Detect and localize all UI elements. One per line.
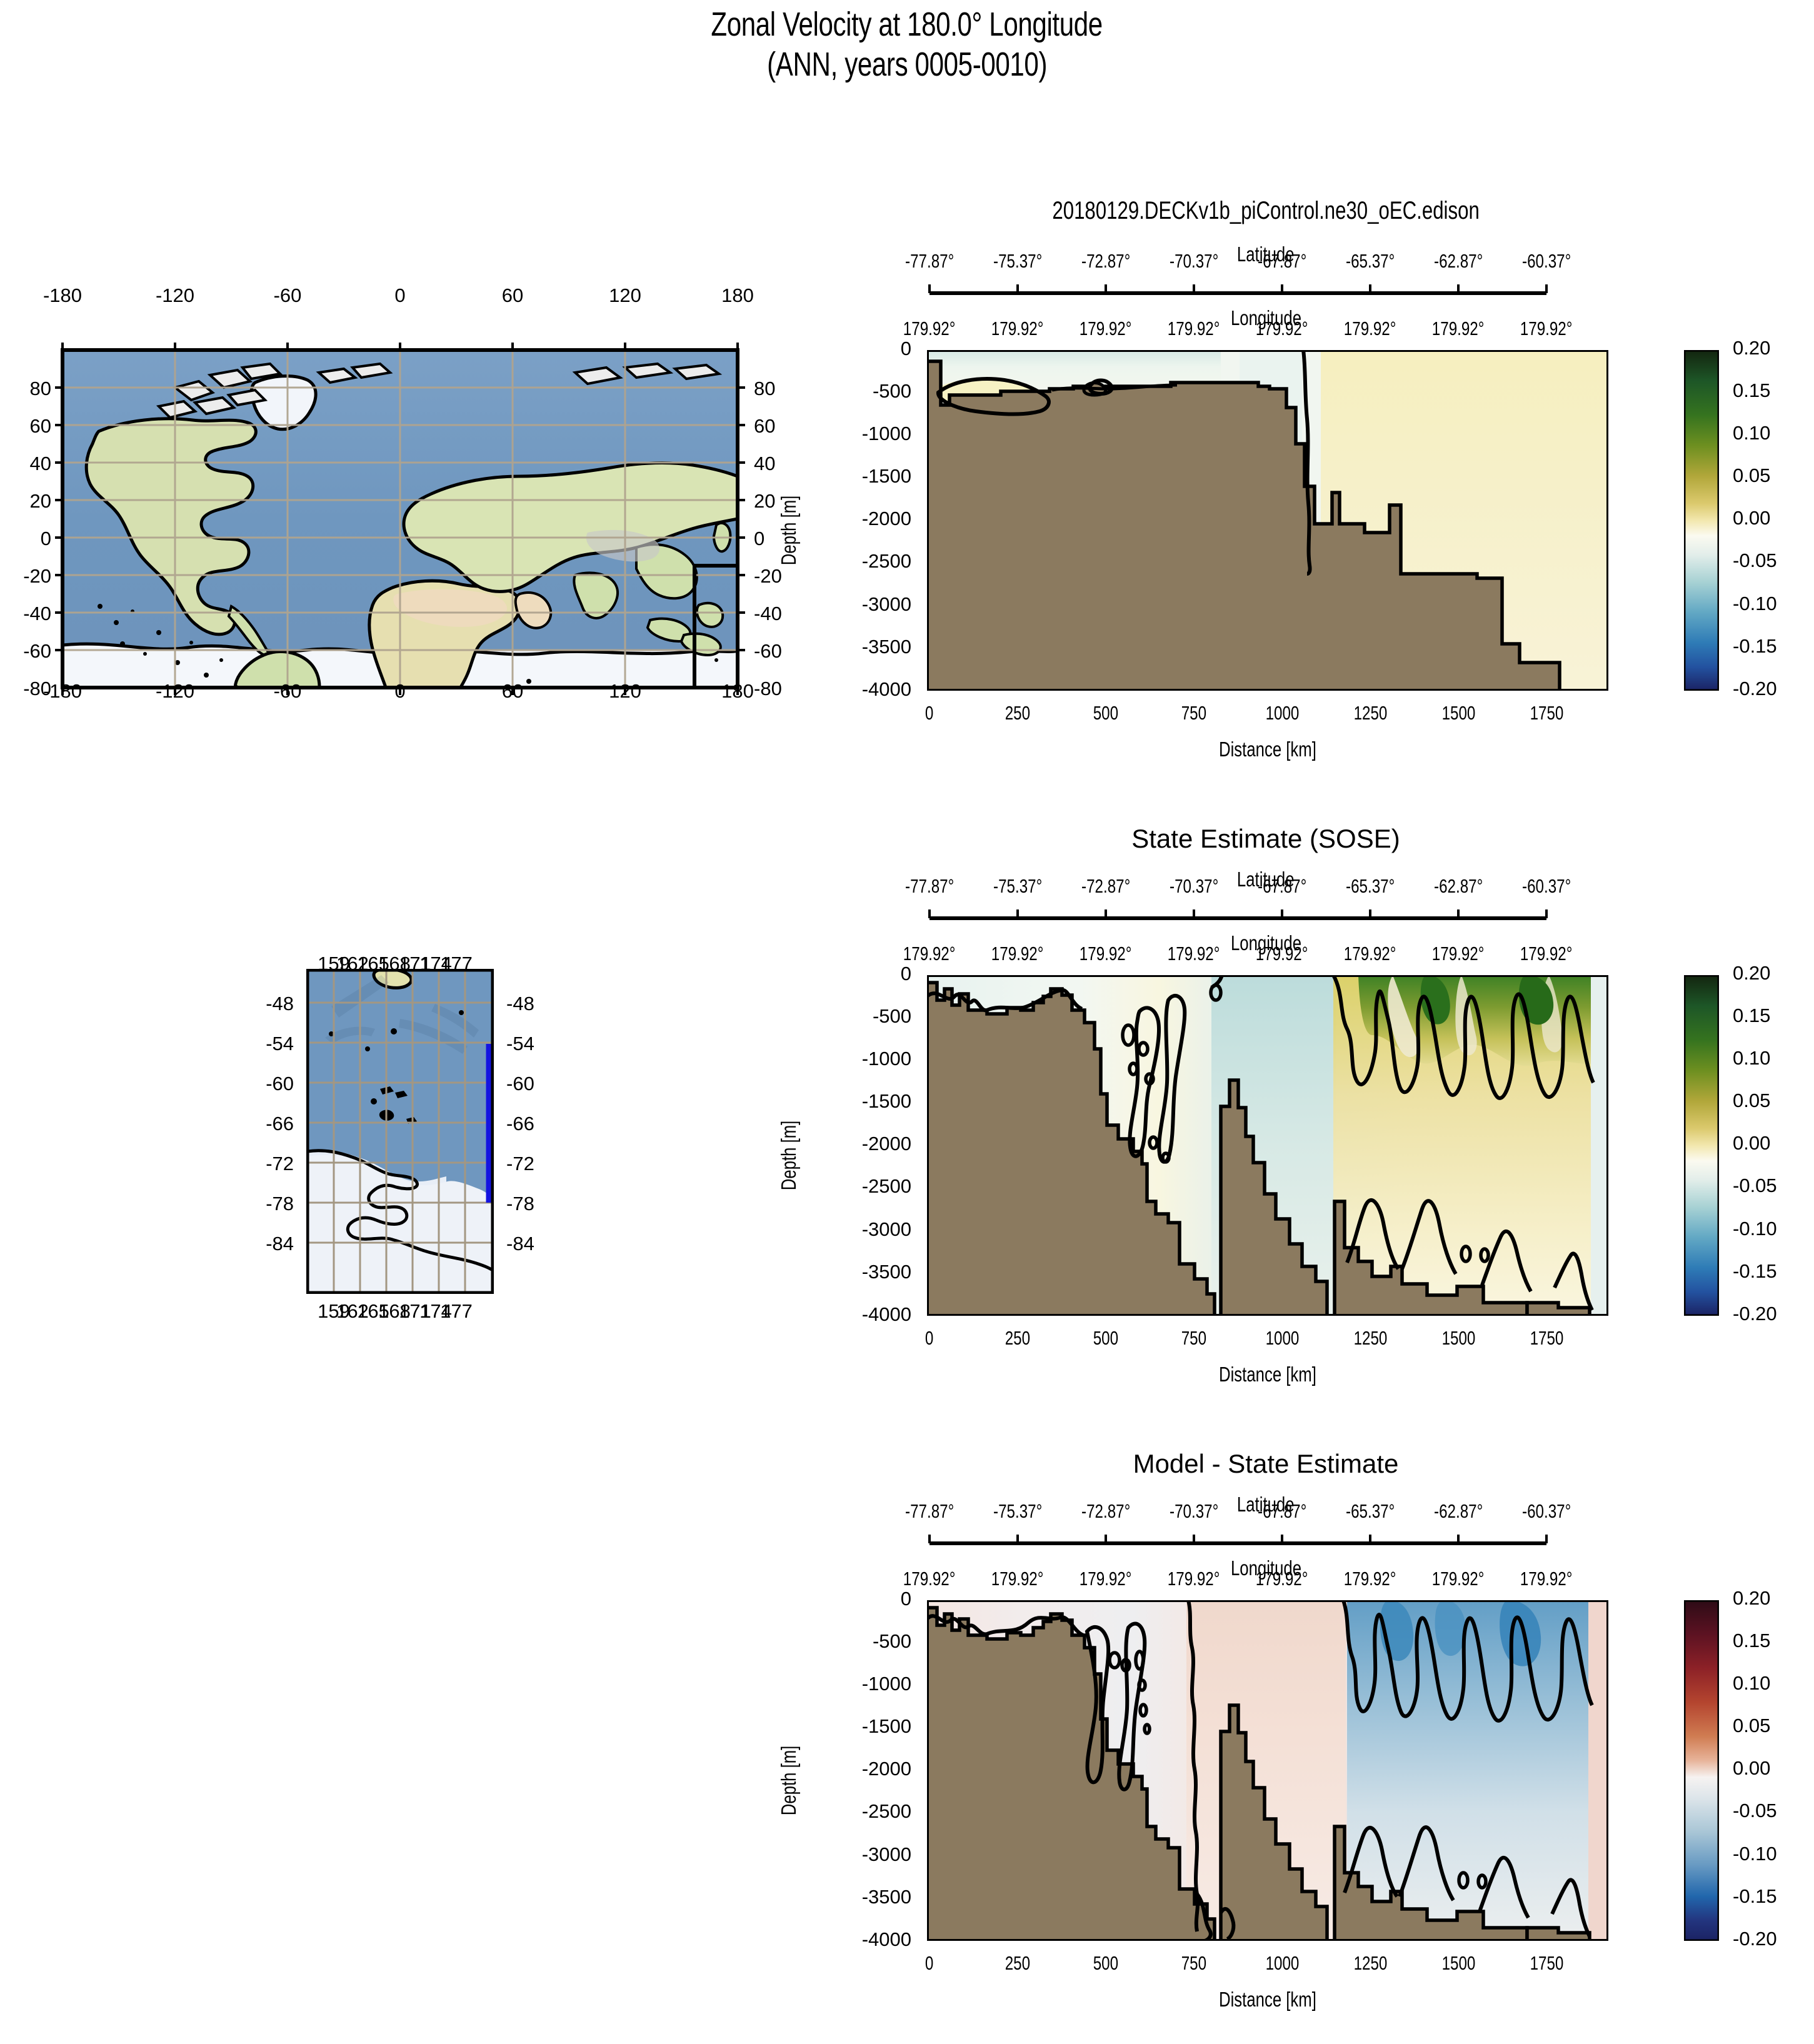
sose-x-axis-label: Distance [km] — [927, 1363, 1608, 1386]
world-ytick-r-2: 40 — [754, 453, 775, 475]
model-y-tick-8: -4000 — [796, 678, 911, 701]
world-ytick-r-1: 60 — [754, 415, 775, 438]
model-lat-tick-7: -60.37° — [1490, 250, 1603, 273]
difference-latitude-spine — [927, 1535, 1608, 1547]
difference-y-tick-5: -2500 — [796, 1800, 911, 1823]
model-y-tick-1: -500 — [796, 380, 911, 403]
model-colorbar-tick-5: -0.05 — [1733, 549, 1777, 572]
model-section-svg — [927, 350, 1608, 691]
sose-colorbar-tick-2: 0.10 — [1733, 1047, 1770, 1070]
sose-section-plot[interactable] — [927, 975, 1608, 1316]
difference-y-tick-4: -2000 — [796, 1758, 911, 1780]
world-ytick-r-4: 0 — [754, 528, 764, 550]
world-ytick-l-6: -40 — [0, 603, 51, 625]
region-ytick-l-0: -48 — [231, 993, 294, 1015]
model-lon-tick-7: 179.92° — [1484, 318, 1609, 340]
global-locator-map-svg — [25, 313, 775, 700]
region-ytick-r-0: -48 — [506, 993, 534, 1015]
regional-locator-map[interactable] — [306, 969, 494, 1294]
world-ytick-r-0: 80 — [754, 378, 775, 400]
model-y-tick-2: -1000 — [796, 423, 911, 445]
model-y-tick-5: -2500 — [796, 550, 911, 573]
world-ytick-l-1: 60 — [0, 415, 51, 438]
region-ytick-l-5: -78 — [231, 1193, 294, 1215]
sose-panel-title: State Estimate (SOSE) — [875, 824, 1656, 854]
sose-colorbar[interactable] — [1684, 975, 1719, 1316]
world-xtick-top-1: -120 — [125, 284, 225, 307]
sose-colorbar-tick-5: -0.05 — [1733, 1175, 1777, 1197]
model-panel-title: 20180129.DECKv1b_piControl.ne30_oEC.edis… — [875, 197, 1656, 225]
sose-lat-tick-7: -60.37° — [1490, 875, 1603, 898]
world-xtick-bot-2: -60 — [238, 680, 338, 703]
difference-y-tick-2: -1000 — [796, 1673, 911, 1695]
world-xtick-top-5: 120 — [575, 284, 675, 307]
sose-section-svg — [927, 975, 1608, 1316]
difference-panel-title: Model - State Estimate — [875, 1449, 1656, 1479]
sose-y-tick-7: -3500 — [796, 1261, 911, 1283]
difference-colorbar-tick-2: 0.10 — [1733, 1672, 1770, 1695]
difference-colorbar-tick-5: -0.05 — [1733, 1800, 1777, 1822]
model-y-tick-3: -1500 — [796, 465, 911, 488]
difference-colorbar-tick-8: -0.20 — [1733, 1928, 1777, 1950]
sose-colorbar-tick-8: -0.20 — [1733, 1303, 1777, 1325]
difference-lat-tick-7: -60.37° — [1490, 1500, 1603, 1523]
model-colorbar-tick-8: -0.20 — [1733, 678, 1777, 700]
world-xtick-bot-3: 0 — [350, 680, 450, 703]
model-colorbar-tick-2: 0.10 — [1733, 422, 1770, 444]
region-ytick-r-6: -84 — [506, 1233, 534, 1255]
model-colorbar-tick-4: 0.00 — [1733, 507, 1770, 529]
difference-y-tick-1: -500 — [796, 1630, 911, 1653]
difference-colorbar-tick-3: 0.05 — [1733, 1715, 1770, 1737]
model-colorbar-tick-6: -0.10 — [1733, 593, 1777, 615]
model-y-tick-7: -3500 — [796, 636, 911, 658]
sose-y-tick-6: -3000 — [796, 1218, 911, 1241]
world-ytick-l-8: -80 — [0, 678, 51, 700]
difference-y-tick-0: 0 — [796, 1588, 911, 1610]
sose-y-tick-4: -2000 — [796, 1133, 911, 1155]
sose-colorbar-tick-1: 0.15 — [1733, 1004, 1770, 1027]
sose-colorbar-tick-3: 0.05 — [1733, 1090, 1770, 1112]
sose-y-tick-3: -1500 — [796, 1090, 911, 1113]
region-xtick-top-6: 177 — [431, 953, 481, 975]
difference-colorbar-tick-1: 0.15 — [1733, 1630, 1770, 1652]
model-y-tick-6: -3000 — [796, 593, 911, 616]
model-colorbar-tick-0: 0.20 — [1733, 337, 1770, 359]
world-xtick-bot-1: -120 — [125, 680, 225, 703]
region-ytick-r-3: -66 — [506, 1113, 534, 1135]
difference-y-tick-6: -3000 — [796, 1843, 911, 1866]
suptitle-line-2: (ANN, years 0005-0010) — [767, 45, 1047, 85]
model-section-plot[interactable] — [927, 350, 1608, 691]
world-ytick-r-7: -60 — [754, 640, 782, 663]
sose-y-axis-label: Depth [m] — [777, 1111, 801, 1200]
model-y-tick-4: -2000 — [796, 508, 911, 530]
sose-colorbar-tick-4: 0.00 — [1733, 1132, 1770, 1155]
model-y-tick-0: 0 — [796, 338, 911, 360]
world-ytick-r-3: 20 — [754, 490, 775, 513]
regional-locator-map-svg — [306, 969, 494, 1294]
sose-y-tick-8: -4000 — [796, 1303, 911, 1326]
difference-y-axis-label: Depth [m] — [777, 1736, 801, 1825]
world-ytick-r-8: -80 — [754, 678, 782, 700]
sose-colorbar-tick-0: 0.20 — [1733, 962, 1770, 984]
sose-x-tick-7: 1750 — [1490, 1327, 1603, 1350]
region-ytick-l-2: -60 — [231, 1073, 294, 1095]
model-colorbar-tick-7: -0.15 — [1733, 635, 1777, 658]
world-ytick-l-4: 0 — [0, 528, 51, 550]
sose-colorbar-tick-6: -0.10 — [1733, 1218, 1777, 1240]
difference-y-tick-8: -4000 — [796, 1928, 911, 1951]
region-ytick-l-3: -66 — [231, 1113, 294, 1135]
region-ytick-r-2: -60 — [506, 1073, 534, 1095]
region-ytick-r-1: -54 — [506, 1033, 534, 1055]
model-y-axis-label: Depth [m] — [777, 486, 801, 575]
global-locator-map[interactable] — [25, 313, 775, 700]
difference-colorbar-tick-0: 0.20 — [1733, 1587, 1770, 1610]
model-x-axis-label: Distance [km] — [927, 738, 1608, 761]
sose-y-tick-1: -500 — [796, 1005, 911, 1028]
region-xtick-bot-6: 177 — [431, 1300, 481, 1323]
world-xtick-top-6: 180 — [688, 284, 788, 307]
difference-colorbar[interactable] — [1684, 1600, 1719, 1941]
world-xtick-bot-4: 60 — [463, 680, 563, 703]
difference-section-plot[interactable] — [927, 1600, 1608, 1941]
difference-section-svg — [927, 1600, 1608, 1941]
difference-y-tick-3: -1500 — [796, 1715, 911, 1738]
sose-colorbar-tick-7: -0.15 — [1733, 1260, 1777, 1283]
world-ytick-l-0: 80 — [0, 378, 51, 400]
world-xtick-top-4: 60 — [463, 284, 563, 307]
world-ytick-l-2: 40 — [0, 453, 51, 475]
world-ytick-r-6: -40 — [754, 603, 782, 625]
world-ytick-l-5: -20 — [0, 565, 51, 588]
world-xtick-top-0: -180 — [13, 284, 113, 307]
difference-y-tick-7: -3500 — [796, 1886, 911, 1908]
world-xtick-top-2: -60 — [238, 284, 338, 307]
sose-y-tick-0: 0 — [796, 963, 911, 985]
model-latitude-spine — [927, 284, 1608, 297]
sose-y-tick-2: -1000 — [796, 1048, 911, 1070]
sose-y-tick-5: -2500 — [796, 1175, 911, 1198]
region-ytick-l-1: -54 — [231, 1033, 294, 1055]
model-colorbar-tick-3: 0.05 — [1733, 464, 1770, 487]
difference-colorbar-tick-6: -0.10 — [1733, 1843, 1777, 1865]
sose-lon-tick-7: 179.92° — [1484, 943, 1609, 965]
difference-x-tick-7: 1750 — [1490, 1952, 1603, 1975]
world-ytick-l-3: 20 — [0, 490, 51, 513]
region-ytick-l-4: -72 — [231, 1153, 294, 1175]
difference-colorbar-tick-4: 0.00 — [1733, 1757, 1770, 1780]
region-ytick-r-5: -78 — [506, 1193, 534, 1215]
difference-colorbar-tick-7: -0.15 — [1733, 1885, 1777, 1908]
region-ytick-r-4: -72 — [506, 1153, 534, 1175]
world-xtick-top-3: 0 — [350, 284, 450, 307]
sose-latitude-spine — [927, 909, 1608, 922]
difference-x-axis-label: Distance [km] — [927, 1988, 1608, 2011]
difference-lon-tick-7: 179.92° — [1484, 1568, 1609, 1590]
model-colorbar-tick-1: 0.15 — [1733, 379, 1770, 402]
world-ytick-l-7: -60 — [0, 640, 51, 663]
world-xtick-bot-5: 120 — [575, 680, 675, 703]
suptitle-line-1: Zonal Velocity at 180.0° Longitude — [711, 5, 1103, 45]
figure-suptitle: Zonal Velocity at 180.0° Longitude (ANN,… — [0, 5, 1814, 84]
model-x-tick-7: 1750 — [1490, 702, 1603, 724]
model-colorbar[interactable] — [1684, 350, 1719, 691]
region-ytick-l-6: -84 — [231, 1233, 294, 1255]
